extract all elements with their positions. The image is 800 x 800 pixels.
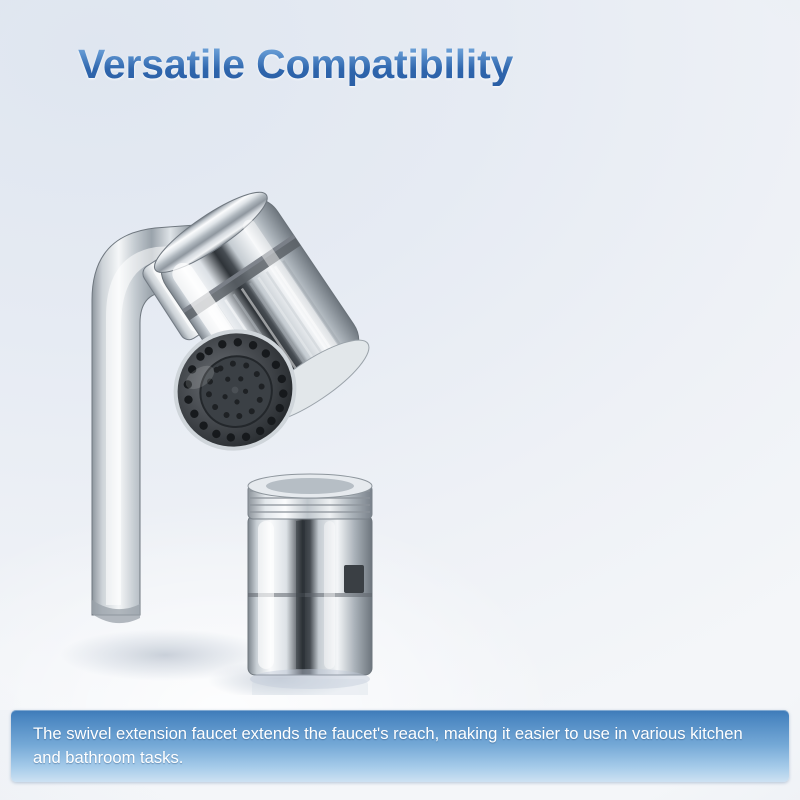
hero-product-image xyxy=(30,95,390,695)
caption-text: The swivel extension faucet extends the … xyxy=(11,722,789,769)
hexagon-collage xyxy=(380,40,800,700)
caption-bar: The swivel extension faucet extends the … xyxy=(11,710,789,782)
product-feature-banner: Versatile Compatibility xyxy=(0,0,800,800)
